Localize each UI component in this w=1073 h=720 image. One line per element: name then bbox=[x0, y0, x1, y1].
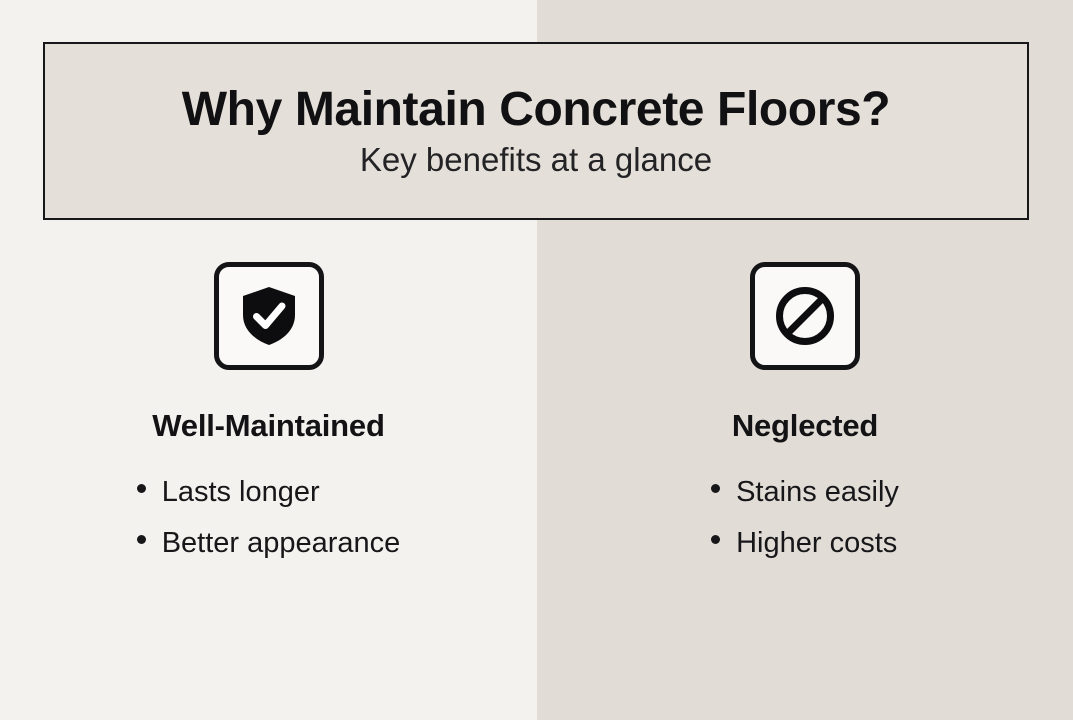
column-neglected: Neglected Stains easily Higher costs bbox=[537, 262, 1073, 662]
column-heading-well-maintained: Well-Maintained bbox=[152, 408, 384, 444]
bullet-list-neglected: Stains easily Higher costs bbox=[711, 478, 899, 558]
page-subtitle: Key benefits at a glance bbox=[360, 142, 712, 178]
list-item: Better appearance bbox=[137, 529, 401, 558]
comparison-columns: Well-Maintained Lasts longer Better appe… bbox=[0, 262, 1073, 662]
bullet-dot-icon bbox=[137, 484, 146, 493]
list-item-label: Better appearance bbox=[162, 529, 401, 558]
column-well-maintained: Well-Maintained Lasts longer Better appe… bbox=[0, 262, 537, 662]
list-item: Stains easily bbox=[711, 478, 899, 507]
prohibition-icon bbox=[774, 285, 836, 347]
bullet-list-well-maintained: Lasts longer Better appearance bbox=[137, 478, 401, 558]
column-heading-neglected: Neglected bbox=[732, 408, 878, 444]
list-item: Lasts longer bbox=[137, 478, 401, 507]
page-title: Why Maintain Concrete Floors? bbox=[182, 84, 890, 136]
bullet-dot-icon bbox=[711, 484, 720, 493]
list-item-label: Higher costs bbox=[736, 529, 897, 558]
infographic-canvas: Why Maintain Concrete Floors? Key benefi… bbox=[0, 0, 1073, 720]
icon-frame-well-maintained bbox=[214, 262, 324, 370]
list-item-label: Stains easily bbox=[736, 478, 899, 507]
bullet-dot-icon bbox=[711, 535, 720, 544]
shield-check-icon bbox=[239, 285, 299, 347]
header-banner: Why Maintain Concrete Floors? Key benefi… bbox=[43, 42, 1029, 220]
list-item: Higher costs bbox=[711, 529, 899, 558]
icon-frame-neglected bbox=[750, 262, 860, 370]
list-item-label: Lasts longer bbox=[162, 478, 320, 507]
bullet-dot-icon bbox=[137, 535, 146, 544]
